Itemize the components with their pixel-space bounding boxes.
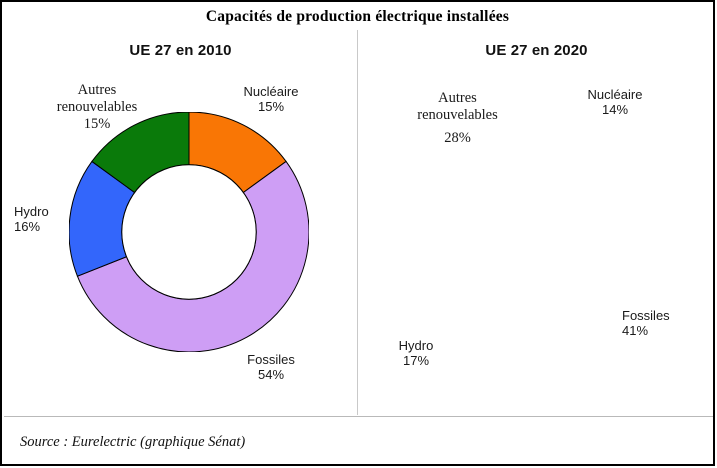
chart-title-2020: UE 27 en 2020: [358, 42, 715, 59]
slice-label-percent: 17%: [386, 353, 446, 368]
slice-label-percent: 16%: [14, 219, 62, 234]
slice-label-autres-renouvelables-2010: Autres renouvelables 15%: [32, 82, 162, 133]
figure-container: Capacités de production électrique insta…: [0, 0, 715, 466]
source-note: Source : Eurelectric (graphique Sénat): [20, 434, 245, 451]
slice-label-hydro-2020: Hydro 17%: [386, 338, 446, 369]
chart-panel-2020: UE 27 en 2020 Autres renouvelables 28% N…: [358, 2, 715, 416]
slice-label-nucleaire-2010: Nucléaire 15%: [226, 84, 316, 115]
slice-label-percent: 14%: [570, 102, 660, 117]
slice-label-fossiles-2020: Fossiles 41%: [622, 308, 692, 339]
slice-label-nucleaire-2020: Nucléaire 14%: [570, 87, 660, 118]
slice-label-text-line2: renouvelables: [390, 107, 525, 124]
slice-label-percent: 15%: [226, 99, 316, 114]
slice-label-percent: 41%: [622, 323, 692, 338]
slice-label-percent: 15%: [32, 116, 162, 133]
slice-label-hydro-2010: Hydro 16%: [14, 204, 62, 235]
slice-label-text-line1: Autres: [78, 82, 117, 98]
slice-label-fossiles-2010: Fossiles 54%: [226, 352, 316, 383]
donut-chart-2010: [69, 112, 309, 352]
slice-label-autres-renouvelables-2020: Autres renouvelables 28%: [390, 90, 525, 147]
slice-label-text: Hydro: [14, 204, 49, 219]
slice-label-text: Nucléaire: [588, 87, 643, 102]
chart-panel-2010: UE 27 en 2010 Autres renouvelables 15% N…: [4, 2, 357, 416]
chart-title-2010: UE 27 en 2010: [4, 42, 357, 59]
slice-label-text-line2: renouvelables: [32, 99, 162, 116]
slice-label-text: Fossiles: [247, 352, 295, 367]
slice-label-text: Fossiles: [622, 308, 670, 323]
slice-label-percent: 28%: [390, 130, 525, 147]
source-divider: [4, 416, 715, 417]
slice-label-percent: 54%: [226, 367, 316, 382]
donut-svg-2010: [69, 112, 309, 352]
slice-label-text-line1: Autres: [438, 90, 477, 106]
slice-label-text: Hydro: [399, 338, 434, 353]
slice-label-text: Nucléaire: [244, 84, 299, 99]
donut-hole-2010: [122, 165, 256, 299]
